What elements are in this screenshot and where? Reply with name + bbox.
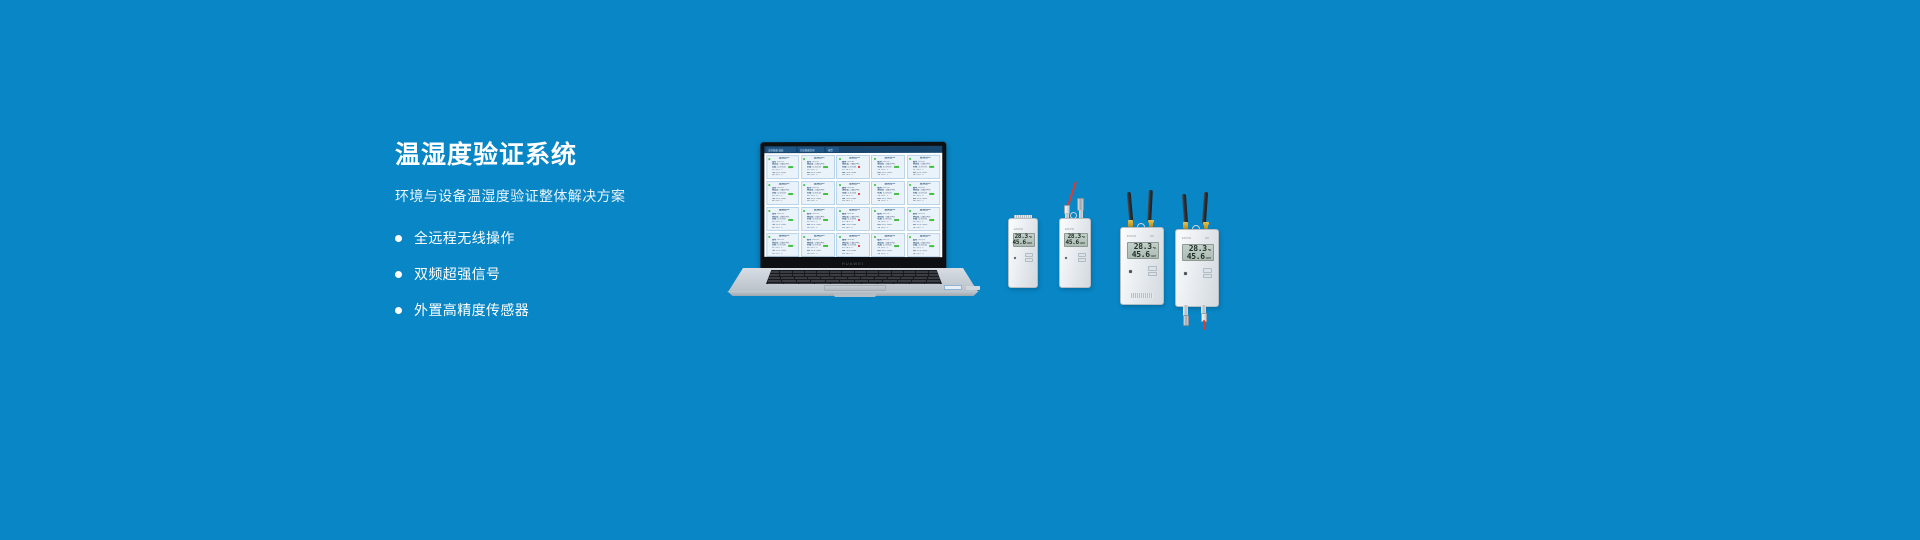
monitor-card-field: T228.0 ℃	[913, 253, 938, 256]
monitor-card-field: T228.0 ℃	[842, 200, 867, 203]
monitor-card[interactable]: 监测点01编号001-01测点名冷藏库A区状态正常在线T128.3 ℃RH45.…	[801, 181, 835, 206]
keyboard-key[interactable]	[830, 271, 841, 273]
monitor-card[interactable]: 监测点01编号001-01测点名冷藏库A区状态正常在线T128.3 ℃RH45.…	[801, 155, 835, 180]
device-3-brand-label: ENOW	[1127, 235, 1136, 238]
monitor-card[interactable]: 监测点01编号001-01测点名冷藏库A区状态正常在线T128.3 ℃RH45.…	[766, 233, 800, 257]
keyboard-key[interactable]	[867, 274, 878, 276]
device-4-brand-label: ENOW	[1182, 237, 1191, 240]
list-item: 全远程无线操作	[395, 228, 725, 248]
monitor-card-grid: 监测点01编号001-01测点名冷藏库A区状态正常在线T128.3 ℃RH45.…	[764, 153, 942, 257]
keyboard-key[interactable]	[840, 280, 853, 282]
field-value: 28.0 ℃	[846, 227, 853, 230]
status-badge	[894, 219, 899, 221]
monitor-card-field: T228.0 ℃	[772, 252, 797, 255]
laptop-base	[718, 268, 988, 297]
tab-alarms[interactable]: 报警	[826, 147, 839, 152]
keyboard-key[interactable]	[869, 280, 882, 282]
monitor-card-title: 监测点01	[877, 235, 902, 238]
field-value: 28.0 ℃	[916, 200, 923, 203]
keyboard-key[interactable]	[805, 271, 816, 273]
device-2-humidity: 45.6	[1066, 240, 1079, 246]
laptop-lid-notch	[834, 294, 876, 297]
keyboard-key[interactable]	[842, 271, 853, 273]
device-1-buttons[interactable]	[1025, 253, 1033, 262]
feature-label: 全远程无线操作	[414, 228, 515, 248]
keyboard-key[interactable]	[928, 277, 940, 279]
laptop-spec-sticker	[944, 285, 962, 290]
field-value: 28.0 ℃	[846, 174, 853, 177]
monitor-card[interactable]: 监测点01编号001-01测点名冷藏库A区状态正常在线T128.3 ℃RH45.…	[871, 207, 905, 232]
laptop-screen: 实时数据 曲线 历史数据查询 报警 监测点01编号001-01测点名冷藏库A区状…	[764, 146, 942, 257]
status-badge	[823, 245, 828, 247]
monitor-card[interactable]: 监测点01编号001-01测点名冷藏库A区状态正常在线T128.3 ℃RH45.…	[766, 181, 800, 206]
device-2-button-up[interactable]	[1078, 253, 1086, 257]
status-led-icon	[768, 158, 770, 160]
monitor-card-title: 监测点01	[877, 157, 902, 160]
monitor-card[interactable]: 监测点01编号001-01测点名冷藏库A区状态正常在线T128.3 ℃RH45.…	[871, 154, 905, 179]
monitor-card-field: T228.0 ℃	[842, 253, 867, 256]
monitor-card-field: T228.0 ℃	[913, 200, 938, 203]
list-item: 外置高精度传感器	[395, 300, 725, 320]
status-led-icon	[909, 236, 911, 238]
keyboard-key[interactable]	[883, 280, 896, 282]
tab-realtime-data[interactable]: 实时数据 曲线	[766, 147, 796, 152]
keyboard-key[interactable]	[768, 280, 781, 282]
field-key: T2	[877, 200, 880, 203]
field-value: 28.0 ℃	[916, 253, 923, 256]
device-1-brand-label: ENOW	[1014, 228, 1023, 231]
device-1-humidity-unit: %RH	[1027, 242, 1032, 245]
monitor-card-field: T228.0 ℃	[807, 174, 832, 177]
field-key: T2	[877, 227, 880, 230]
device-3-model-label: H8	[1150, 235, 1154, 238]
keyboard-key[interactable]	[780, 274, 791, 276]
device-1-button-up[interactable]	[1025, 253, 1033, 257]
keyboard-key[interactable]	[768, 277, 780, 279]
monitor-card-field: T228.0 ℃	[772, 174, 797, 177]
field-value: 28.0 ℃	[881, 253, 888, 256]
keyboard-key[interactable]	[815, 283, 830, 284]
keyboard-key[interactable]	[847, 283, 862, 284]
status-led-icon	[768, 210, 770, 212]
status-led-icon	[803, 236, 805, 238]
monitor-card-title: 监测点01	[913, 209, 938, 212]
device-1-lcd-display: 28.3 ℃ 45.6 %RH	[1013, 233, 1035, 247]
device-2-buttons[interactable]	[1078, 253, 1086, 262]
keyboard-row	[768, 271, 940, 273]
device-2-lcd-display: 28.3 ℃ 45.6 %RH	[1064, 233, 1088, 247]
antenna-rod-icon	[1127, 192, 1134, 222]
keyboard-key[interactable]	[780, 271, 791, 273]
status-badge	[929, 219, 934, 221]
device-3-humidity-unit: %RH	[1151, 255, 1156, 258]
keyboard-key[interactable]	[875, 277, 887, 279]
monitor-card-field: T228.0 ℃	[877, 174, 902, 177]
field-key: T2	[807, 253, 810, 256]
monitor-card-title: 监测点01	[877, 183, 902, 186]
keyboard-key[interactable]	[888, 277, 900, 279]
keyboard-key[interactable]	[793, 274, 804, 276]
keyboard-key[interactable]	[821, 277, 833, 279]
monitor-card-title: 监测点01	[842, 157, 867, 160]
laptop-secondary-sticker	[966, 286, 980, 290]
keyboard-key[interactable]	[855, 274, 866, 276]
field-value: 28.0 ℃	[881, 227, 888, 230]
status-led-icon	[768, 184, 770, 186]
keyboard-key[interactable]	[817, 274, 828, 276]
field-key: T2	[842, 227, 845, 230]
status-led-icon	[909, 157, 911, 159]
field-key: T2	[807, 174, 810, 177]
keyboard-key[interactable]	[879, 271, 890, 273]
device-2-red-probe-cable	[1067, 181, 1077, 206]
field-key: T2	[913, 174, 916, 177]
field-key: T2	[772, 226, 775, 229]
keyboard-key[interactable]	[898, 280, 911, 282]
keyboard-key[interactable]	[782, 280, 795, 282]
field-value: 28.0 ℃	[881, 200, 888, 203]
keyboard-key[interactable]	[867, 271, 878, 273]
status-badge	[894, 245, 899, 247]
device-4-lcd-display: 28.3 ℃ 45.6 %RH	[1182, 244, 1214, 261]
device-2-button-down[interactable]	[1078, 258, 1086, 262]
keyboard-key[interactable]	[835, 277, 847, 279]
keyboard-key[interactable]	[793, 271, 804, 273]
monitor-card-title: 监测点01	[807, 157, 832, 160]
keyboard-key[interactable]	[904, 274, 915, 276]
field-key: T2	[807, 200, 810, 203]
monitor-card-field: T228.0 ℃	[877, 200, 902, 203]
monitor-card-field: T228.0 ℃	[842, 174, 867, 177]
keyboard-key[interactable]	[842, 274, 853, 276]
monitor-card-field: T228.0 ℃	[807, 200, 832, 203]
field-value: 28.0 ℃	[775, 226, 782, 229]
keyboard-key[interactable]	[879, 274, 890, 276]
field-value: 28.0 ℃	[810, 200, 817, 203]
keyboard-key[interactable]	[878, 283, 893, 284]
laptop-lid: 实时数据 曲线 历史数据查询 报警 监测点01编号001-01测点名冷藏库A区状…	[760, 142, 946, 270]
monitor-card-title: 监测点01	[772, 183, 797, 186]
field-key: T2	[772, 200, 775, 203]
list-item: 双频超强信号	[395, 264, 725, 284]
monitor-card[interactable]: 监测点01编号001-01测点名冷藏库A区状态正常在线T128.3 ℃RH45.…	[836, 207, 870, 232]
antenna-rod-icon	[1182, 194, 1188, 224]
keyboard-key[interactable]	[892, 271, 903, 273]
status-badge	[788, 219, 793, 221]
field-key: T2	[772, 252, 775, 255]
device-4-button-up[interactable]	[1203, 268, 1212, 273]
monitor-card-field: T228.0 ℃	[807, 253, 832, 256]
monitor-card[interactable]: 监测点01编号001-01测点名冷藏库A区状态正常在线T128.3 ℃RH45.…	[801, 207, 835, 232]
monitor-card-field: T228.0 ℃	[772, 200, 797, 203]
keyboard-key[interactable]	[848, 277, 860, 279]
field-key: T2	[842, 174, 845, 177]
device-2-body: ENOW 28.3 ℃ 45.6 %RH	[1059, 218, 1091, 288]
keyboard-key[interactable]	[862, 283, 877, 284]
monitor-card[interactable]: 监测点01编号001-01测点名冷藏库A区状态正常在线T128.3 ℃RH45.…	[907, 154, 941, 179]
monitor-card[interactable]: 监测点01编号001-01测点名冷藏库A区状态正常在线T128.3 ℃RH45.…	[907, 233, 941, 257]
field-key: T2	[913, 227, 916, 230]
device-4-led-indicator	[1184, 272, 1187, 275]
keyboard-key[interactable]	[925, 283, 940, 284]
monitor-card-title: 监测点01	[913, 183, 938, 186]
device-3-body: ENOW H8 28.3 ℃ 45.6 %RH	[1120, 227, 1164, 305]
monitor-card-field: T228.0 ℃	[913, 174, 938, 177]
field-key: T2	[842, 253, 845, 256]
monitor-card[interactable]: 监测点01编号001-01测点名冷藏库A区状态正常在线T128.3 ℃RH45.…	[907, 181, 941, 206]
monitor-card-field: T228.0 ℃	[877, 227, 902, 230]
keyboard-row	[768, 283, 940, 284]
monitor-card[interactable]: 监测点01编号001-01测点名冷藏库A区状态正常在线T128.3 ℃RH45.…	[907, 207, 941, 232]
field-value: 28.0 ℃	[775, 174, 782, 177]
monitor-card-title: 监测点01	[877, 209, 902, 212]
monitor-card-title: 监测点01	[913, 157, 938, 160]
field-value: 28.0 ℃	[916, 227, 923, 230]
monitor-card-title: 监测点01	[807, 183, 832, 186]
keyboard-key[interactable]	[916, 274, 927, 276]
monitor-card-field: T228.0 ℃	[807, 226, 832, 229]
field-value: 28.0 ℃	[881, 174, 888, 177]
alarm-badge	[858, 193, 860, 195]
monitor-card[interactable]: 监测点01编号001-01测点名冷藏库A区状态正常在线T128.3 ℃RH45.…	[836, 154, 870, 179]
monitor-card-field: T228.0 ℃	[842, 227, 867, 230]
status-led-icon	[839, 158, 841, 160]
device-2-humidity-unit: %RH	[1080, 242, 1085, 245]
keyboard-key[interactable]	[831, 283, 846, 284]
monitor-card[interactable]: 监测点01编号001-01测点名冷藏库A区状态正常在线T128.3 ℃RH45.…	[836, 233, 870, 257]
keyboard-key[interactable]	[910, 283, 925, 284]
field-value: 28.0 ℃	[846, 253, 853, 256]
status-led-icon	[803, 210, 805, 212]
field-key: T2	[913, 200, 916, 203]
feature-label: 外置高精度传感器	[414, 300, 529, 320]
field-value: 28.0 ℃	[810, 174, 817, 177]
tab-history-query[interactable]: 历史数据查询	[798, 147, 824, 152]
monitor-card-title: 监测点01	[842, 235, 867, 238]
device-1-humidity: 45.6	[1013, 240, 1026, 246]
sensor-device-group: ENOW 28.3 ℃ 45.6 %RH	[1000, 190, 1250, 370]
device-3-led-indicator	[1129, 270, 1132, 273]
status-led-icon	[874, 184, 876, 186]
status-badge	[929, 193, 934, 195]
keyboard-key[interactable]	[781, 277, 793, 279]
monitor-card-field: T228.0 ℃	[772, 226, 797, 229]
page-title: 温湿度验证系统	[395, 140, 725, 170]
alarm-badge	[858, 245, 860, 247]
status-badge	[894, 193, 899, 195]
device-2-led-indicator	[1065, 257, 1067, 259]
device-3-humidity: 45.6	[1132, 251, 1150, 259]
feature-list: 全远程无线操作 双频超强信号 外置高精度传感器	[395, 228, 725, 320]
keyboard-key[interactable]	[892, 274, 903, 276]
keyboard-key[interactable]	[830, 274, 841, 276]
laptop-keyboard[interactable]	[766, 270, 942, 284]
device-3-button-up[interactable]	[1148, 266, 1157, 271]
device-3-temp-unit: ℃	[1153, 247, 1156, 250]
field-key: T2	[877, 174, 880, 177]
monitor-card[interactable]: 监测点01编号001-01测点名冷藏库A区状态正常在线T128.3 ℃RH45.…	[836, 181, 870, 206]
device-1-temp-unit: ℃	[1029, 236, 1032, 239]
device-3-button-down[interactable]	[1148, 272, 1157, 277]
antenna-rod-icon	[1202, 192, 1208, 224]
hero-banner: 温湿度验证系统 环境与设备温湿度验证整体解决方案 全远程无线操作 双频超强信号 …	[0, 0, 1920, 540]
keyboard-key[interactable]	[912, 280, 925, 282]
hero-subtitle: 环境与设备温湿度验证整体解决方案	[395, 186, 725, 206]
device-4-temp-unit: ℃	[1208, 249, 1211, 252]
monitor-card-title: 监测点01	[807, 235, 832, 238]
alarm-badge	[858, 219, 860, 221]
antenna-rod-icon	[1147, 190, 1153, 222]
keyboard-row	[768, 277, 940, 279]
device-4-buttons[interactable]	[1203, 268, 1212, 278]
device-1-button-down[interactable]	[1025, 258, 1033, 262]
keyboard-key[interactable]	[768, 283, 783, 284]
status-led-icon	[839, 210, 841, 212]
keyboard-key[interactable]	[805, 274, 816, 276]
field-value: 28.0 ℃	[810, 253, 817, 256]
field-key: T2	[807, 226, 810, 229]
keyboard-key[interactable]	[894, 283, 909, 284]
monitor-card-field: T228.0 ℃	[913, 227, 938, 230]
monitor-card-title: 监测点01	[772, 157, 797, 160]
keyboard-key[interactable]	[811, 280, 824, 282]
device-3-buttons[interactable]	[1148, 266, 1157, 276]
status-led-icon	[839, 236, 841, 238]
field-key: T2	[913, 253, 916, 256]
keyboard-key[interactable]	[817, 271, 828, 273]
field-key: T2	[842, 200, 845, 203]
monitor-card-title: 监测点01	[772, 209, 797, 212]
device-3-lcd-display: 28.3 ℃ 45.6 %RH	[1127, 242, 1159, 259]
status-badge	[788, 193, 793, 195]
keyboard-row	[768, 280, 940, 282]
monitor-card[interactable]: 监测点01编号001-01测点名冷藏库A区状态正常在线T128.3 ℃RH45.…	[871, 181, 905, 206]
status-badge	[823, 193, 828, 195]
keyboard-key[interactable]	[784, 283, 799, 284]
bullet-dot-icon	[395, 271, 402, 278]
laptop-product-image: 实时数据 曲线 历史数据查询 报警 监测点01编号001-01测点名冷藏库A区状…	[718, 142, 988, 297]
monitor-card[interactable]: 监测点01编号001-01测点名冷藏库A区状态正常在线T128.3 ℃RH45.…	[766, 155, 800, 180]
status-led-icon	[768, 236, 770, 238]
bullet-dot-icon	[395, 307, 402, 314]
keyboard-key[interactable]	[799, 283, 814, 284]
device-4-model-label: H8	[1205, 237, 1209, 240]
status-badge	[788, 245, 793, 247]
device-4-body: ENOW H8 28.3 ℃ 45.6 %RH	[1175, 229, 1219, 307]
status-led-icon	[839, 184, 841, 186]
monitor-card-title: 监测点01	[772, 235, 797, 238]
keyboard-key[interactable]	[861, 277, 873, 279]
keyboard-key[interactable]	[855, 280, 868, 282]
keyboard-key[interactable]	[795, 277, 807, 279]
bullet-dot-icon	[395, 235, 402, 242]
keyboard-key[interactable]	[797, 280, 810, 282]
status-led-icon	[874, 210, 876, 212]
device-4-button-down[interactable]	[1203, 274, 1212, 279]
field-key: T2	[772, 174, 775, 177]
device-4-red-probe-cable	[1203, 320, 1205, 330]
field-value: 28.0 ℃	[916, 174, 923, 177]
device-3-vent-grille-icon	[1131, 293, 1153, 298]
device-2-brand-label: ENOW	[1065, 228, 1074, 231]
monitor-card-title: 监测点01	[807, 209, 832, 212]
device-4-mesh-sensor-probe	[1183, 315, 1189, 326]
keyboard-key[interactable]	[914, 277, 926, 279]
status-led-icon	[803, 158, 805, 160]
field-value: 28.0 ℃	[775, 252, 782, 255]
monitor-card-field: T228.0 ℃	[877, 253, 902, 256]
field-key: T2	[877, 253, 880, 256]
keyboard-row	[768, 274, 940, 276]
device-1-body: ENOW 28.3 ℃ 45.6 %RH	[1008, 218, 1038, 288]
monitor-card-title: 监测点01	[842, 183, 867, 186]
keyboard-key[interactable]	[855, 271, 866, 273]
keyboard-key[interactable]	[808, 277, 820, 279]
status-led-icon	[803, 184, 805, 186]
monitor-card[interactable]: 监测点01编号001-01测点名冷藏库A区状态正常在线T128.3 ℃RH45.…	[871, 233, 905, 257]
monitor-card[interactable]: 监测点01编号001-01测点名冷藏库A区状态正常在线T128.3 ℃RH45.…	[801, 233, 835, 257]
keyboard-key[interactable]	[916, 271, 927, 273]
hero-copy-block: 温湿度验证系统 环境与设备温湿度验证整体解决方案 全远程无线操作 双频超强信号 …	[395, 140, 725, 336]
keyboard-key[interactable]	[901, 277, 913, 279]
keyboard-key[interactable]	[826, 280, 839, 282]
field-value: 28.0 ℃	[775, 200, 782, 203]
status-led-icon	[909, 184, 911, 186]
keyboard-key[interactable]	[927, 280, 940, 282]
device-1-led-indicator	[1014, 257, 1016, 259]
field-value: 28.0 ℃	[846, 200, 853, 203]
field-value: 28.0 ℃	[810, 226, 817, 229]
monitor-card-title: 监测点01	[842, 209, 867, 212]
feature-label: 双频超强信号	[414, 264, 500, 284]
monitor-card-title: 监测点01	[913, 235, 938, 238]
status-led-icon	[909, 210, 911, 212]
device-4-humidity: 45.6	[1187, 253, 1205, 261]
keyboard-key[interactable]	[904, 271, 915, 273]
device-4-humidity-unit: %RH	[1206, 257, 1211, 260]
status-led-icon	[874, 236, 876, 238]
status-badge	[823, 219, 828, 221]
status-badge	[929, 245, 934, 247]
status-led-icon	[874, 157, 876, 159]
laptop-trackpad[interactable]	[824, 285, 886, 291]
monitor-card[interactable]: 监测点01编号001-01测点名冷藏库A区状态正常在线T128.3 ℃RH45.…	[766, 207, 800, 232]
device-2-temp-unit: ℃	[1082, 236, 1085, 239]
